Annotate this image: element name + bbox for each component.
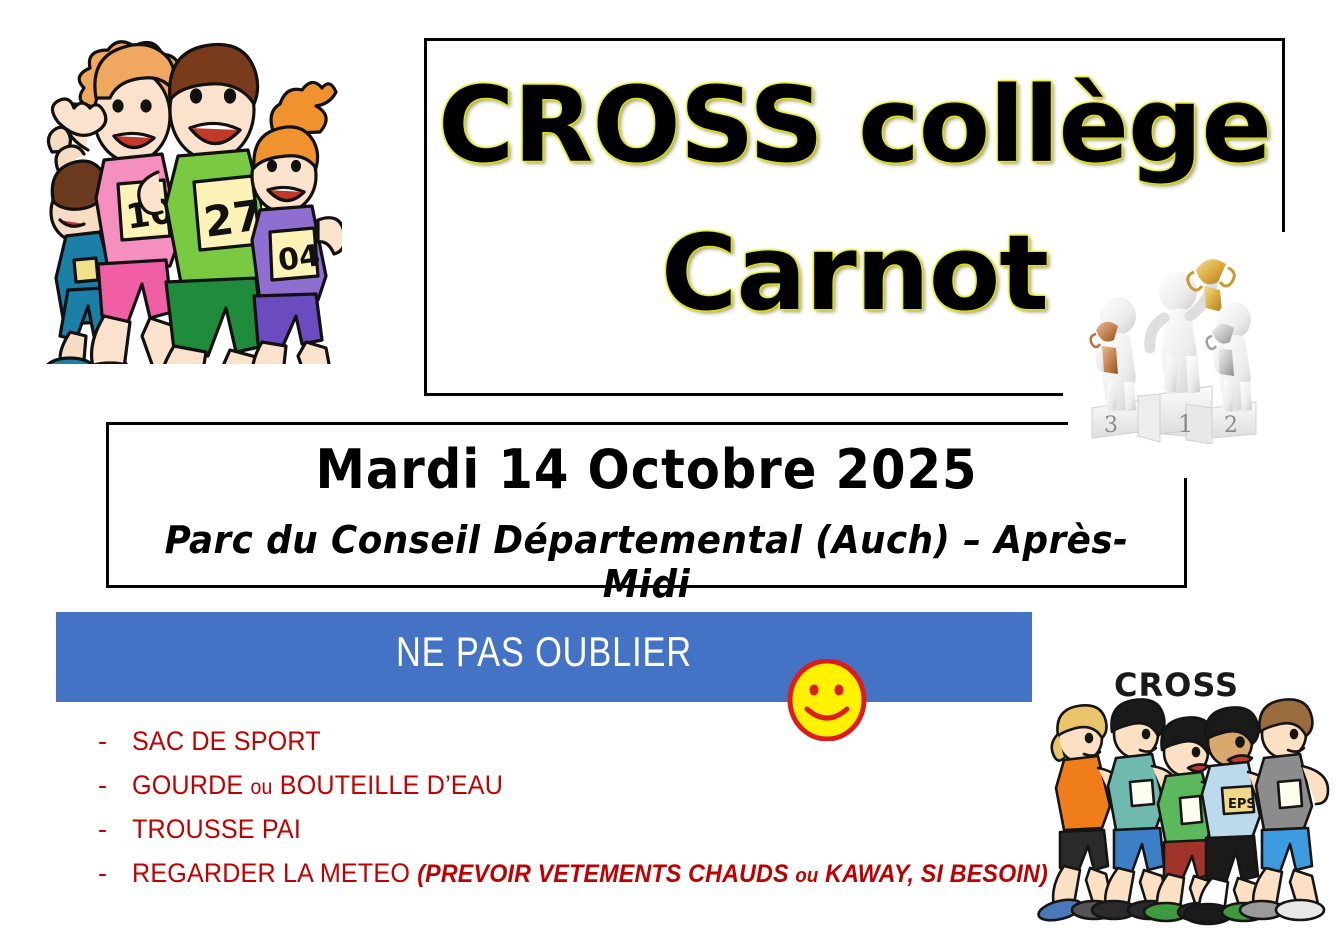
- cartoon-family-runners-image: 10 27 04: [22, 24, 342, 364]
- list-item-note-small: ou: [795, 865, 818, 887]
- list-item: - TROUSSE PAI: [98, 814, 1048, 845]
- list-item-label: TROUSSE PAI: [132, 814, 301, 845]
- svg-text:3: 3: [1104, 413, 1118, 438]
- list-item-text-pre: GOURDE: [132, 770, 251, 800]
- list-item: - REGARDER LA METEO (PREVOIR VETEMENTS C…: [98, 858, 1048, 889]
- list-item: - GOURDE ou BOUTEILLE D’EAU: [98, 770, 1048, 801]
- list-item-note-open: (PREVOIR VETEMENTS CHAUDS: [417, 860, 795, 888]
- event-place: Parc du Conseil Départemental (Auch) – A…: [138, 518, 1154, 606]
- list-item: - SAC DE SPORT: [98, 726, 1048, 757]
- reminder-list: - SAC DE SPORT - GOURDE ou BOUTEILLE D’E…: [98, 726, 1048, 902]
- list-item-text-small: ou: [251, 776, 273, 799]
- list-item-label: SAC DE SPORT: [132, 726, 321, 757]
- list-item-text-post: BOUTEILLE D’EAU: [273, 770, 503, 800]
- svg-text:1: 1: [1178, 410, 1193, 438]
- list-item-text-pre: REGARDER LA METEO: [132, 858, 417, 888]
- list-item-label: GOURDE ou BOUTEILLE D’EAU: [132, 770, 503, 801]
- svg-text:2: 2: [1224, 413, 1238, 438]
- podium-winners-image: 3 1 2: [1074, 248, 1286, 444]
- svg-text:04: 04: [276, 238, 322, 278]
- list-bullet-dash: -: [98, 770, 132, 801]
- list-bullet-dash: -: [98, 858, 132, 889]
- list-item-label: REGARDER LA METEO (PREVOIR VETEMENTS CHA…: [132, 858, 1048, 889]
- list-bullet-dash: -: [98, 814, 132, 845]
- event-date: Mardi 14 Octobre 2025: [149, 438, 1144, 501]
- svg-text:EPS: EPS: [1228, 797, 1256, 812]
- list-bullet-dash: -: [98, 726, 132, 757]
- cartoon-group-runners-image: EPS: [1032, 698, 1338, 938]
- list-item-note: (PREVOIR VETEMENTS CHAUDS ou KAWAY, SI B…: [417, 860, 1048, 888]
- list-item-note-close: KAWAY, SI BESOIN): [818, 860, 1047, 888]
